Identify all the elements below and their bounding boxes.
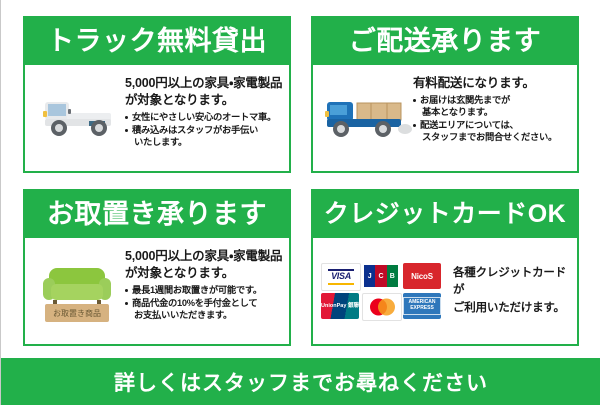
panel-layaway-bullets: 最長1週間お取置きが可能です。 商品代金の10%を手付金として お支払いいただき… [125, 285, 284, 322]
white-kei-truck-icon [29, 69, 125, 169]
panel-delivery-bullets: お届けは玄関先までが 基本となります。 配送エリアについては、 スタッフまでお問… [413, 95, 572, 144]
service-panel-grid: トラック無料貸出 [23, 16, 579, 346]
panel-delivery: ご配送承ります [311, 16, 579, 173]
panel-credit-card-copy: 各種クレジットカードが ご利用いただけます。 [445, 265, 571, 317]
panel-delivery-header: ご配送承ります [313, 18, 577, 65]
visa-card-logo: VISA [321, 263, 361, 291]
panel-credit-card-body: VISA JCB NicoS UnionPay 銀聯 [313, 238, 577, 344]
credit-card-copy-line-1: 各種クレジットカードが [453, 265, 571, 300]
panel-delivery-body: 有料配送になります。 お届けは玄関先までが 基本となります。 配送エリアについて… [313, 65, 577, 171]
panel-layaway-copy: 5,000円以上の家具・家電製品が対象となります。 最長1週間お取置きが可能です… [125, 242, 284, 322]
list-item: 女性にやさしい安心のオートマ車。 [125, 112, 284, 124]
list-item: お届けは玄関先までが 基本となります。 [413, 95, 572, 119]
unionpay-card-logo: UnionPay 銀聯 [321, 293, 359, 319]
amex-card-logo: AMERICAN EXPRESS [403, 293, 441, 319]
panel-truck-rental: トラック無料貸出 [23, 16, 291, 173]
panel-truck-rental-header: トラック無料貸出 [25, 18, 289, 65]
jcb-card-logo: JCB [362, 263, 400, 289]
panel-layaway: お取置き承ります お取置き商品 5,000円以上の家具・家電製 [23, 189, 291, 346]
list-item: 最長1週間お取置きが可能です。 [125, 285, 284, 297]
green-sofa-icon: お取置き商品 [29, 242, 125, 342]
panel-delivery-lead: 有料配送になります。 [413, 75, 572, 92]
accepted-card-logos: VISA JCB NicoS UnionPay 銀聯 [321, 263, 445, 319]
panel-layaway-header: お取置き承ります [25, 191, 289, 238]
poster-page: トラック無料貸出 [0, 0, 600, 405]
panel-layaway-body: お取置き商品 5,000円以上の家具・家電製品が対象となります。 最長1週間お取… [25, 238, 289, 344]
list-item: 積み込みはスタッフがお手伝い いたします。 [125, 125, 284, 149]
credit-card-copy-line-2: ご利用いただけます。 [453, 300, 571, 317]
panel-truck-rental-lead: 5,000円以上の家具・家電製品が対象となります。 [125, 75, 284, 109]
blue-delivery-truck-icon [317, 69, 413, 169]
list-item: 商品代金の10%を手付金として お支払いいただきます。 [125, 298, 284, 322]
panel-credit-card-header: クレジットカードOK [313, 191, 577, 238]
nicos-card-logo: NicoS [403, 263, 441, 289]
panel-credit-card: クレジットカードOK VISA JCB NicoS UnionPa [311, 189, 579, 346]
panel-truck-rental-body: 5,000円以上の家具・家電製品が対象となります。 女性にやさしい安心のオートマ… [25, 65, 289, 171]
footer-banner: 詳しくはスタッフまでお尋ねください [1, 358, 600, 405]
panel-layaway-lead: 5,000円以上の家具・家電製品が対象となります。 [125, 248, 284, 282]
sofa-pedestal-label: お取置き商品 [53, 308, 101, 318]
panel-truck-rental-copy: 5,000円以上の家具・家電製品が対象となります。 女性にやさしい安心のオートマ… [125, 69, 284, 149]
panel-truck-rental-bullets: 女性にやさしい安心のオートマ車。 積み込みはスタッフがお手伝い いたします。 [125, 112, 284, 149]
panel-delivery-copy: 有料配送になります。 お届けは玄関先までが 基本となります。 配送エリアについて… [413, 69, 572, 144]
list-item: 配送エリアについては、 スタッフまでお問合せください。 [413, 120, 572, 144]
mastercard-card-logo [362, 293, 402, 321]
